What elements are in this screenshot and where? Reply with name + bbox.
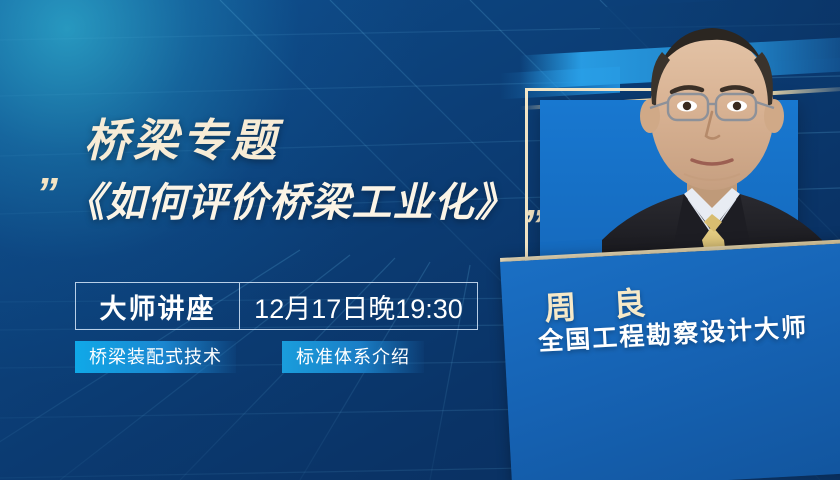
lecture-datetime-label: 12月17日晚19:30 (240, 283, 477, 329)
tag-list: 桥梁装配式技术 标准体系介绍 (75, 341, 495, 375)
lecture-info-box: 大师讲座 12月17日晚19:30 (75, 282, 478, 330)
speaker-portrait (592, 8, 832, 273)
promo-banner: 桥梁专题 ” 《如何评价桥梁工业化》 ” 大师讲座 12月17日晚19:30 桥… (0, 0, 840, 480)
headline-subject-row: ” 《如何评价桥梁工业化》 ” (36, 170, 544, 228)
headline-topic: 桥梁专题 (84, 104, 280, 169)
tag-item[interactable]: 桥梁装配式技术 (75, 341, 236, 373)
lecture-category-label: 大师讲座 (76, 283, 240, 329)
speaker-nameplate: 周 良 全国工程勘察设计大师 (500, 243, 840, 480)
quote-open-mark: ” (36, 172, 58, 216)
headline-subject: 《如何评价桥梁工业化》 (64, 170, 515, 228)
tag-item[interactable]: 标准体系介绍 (282, 341, 424, 373)
